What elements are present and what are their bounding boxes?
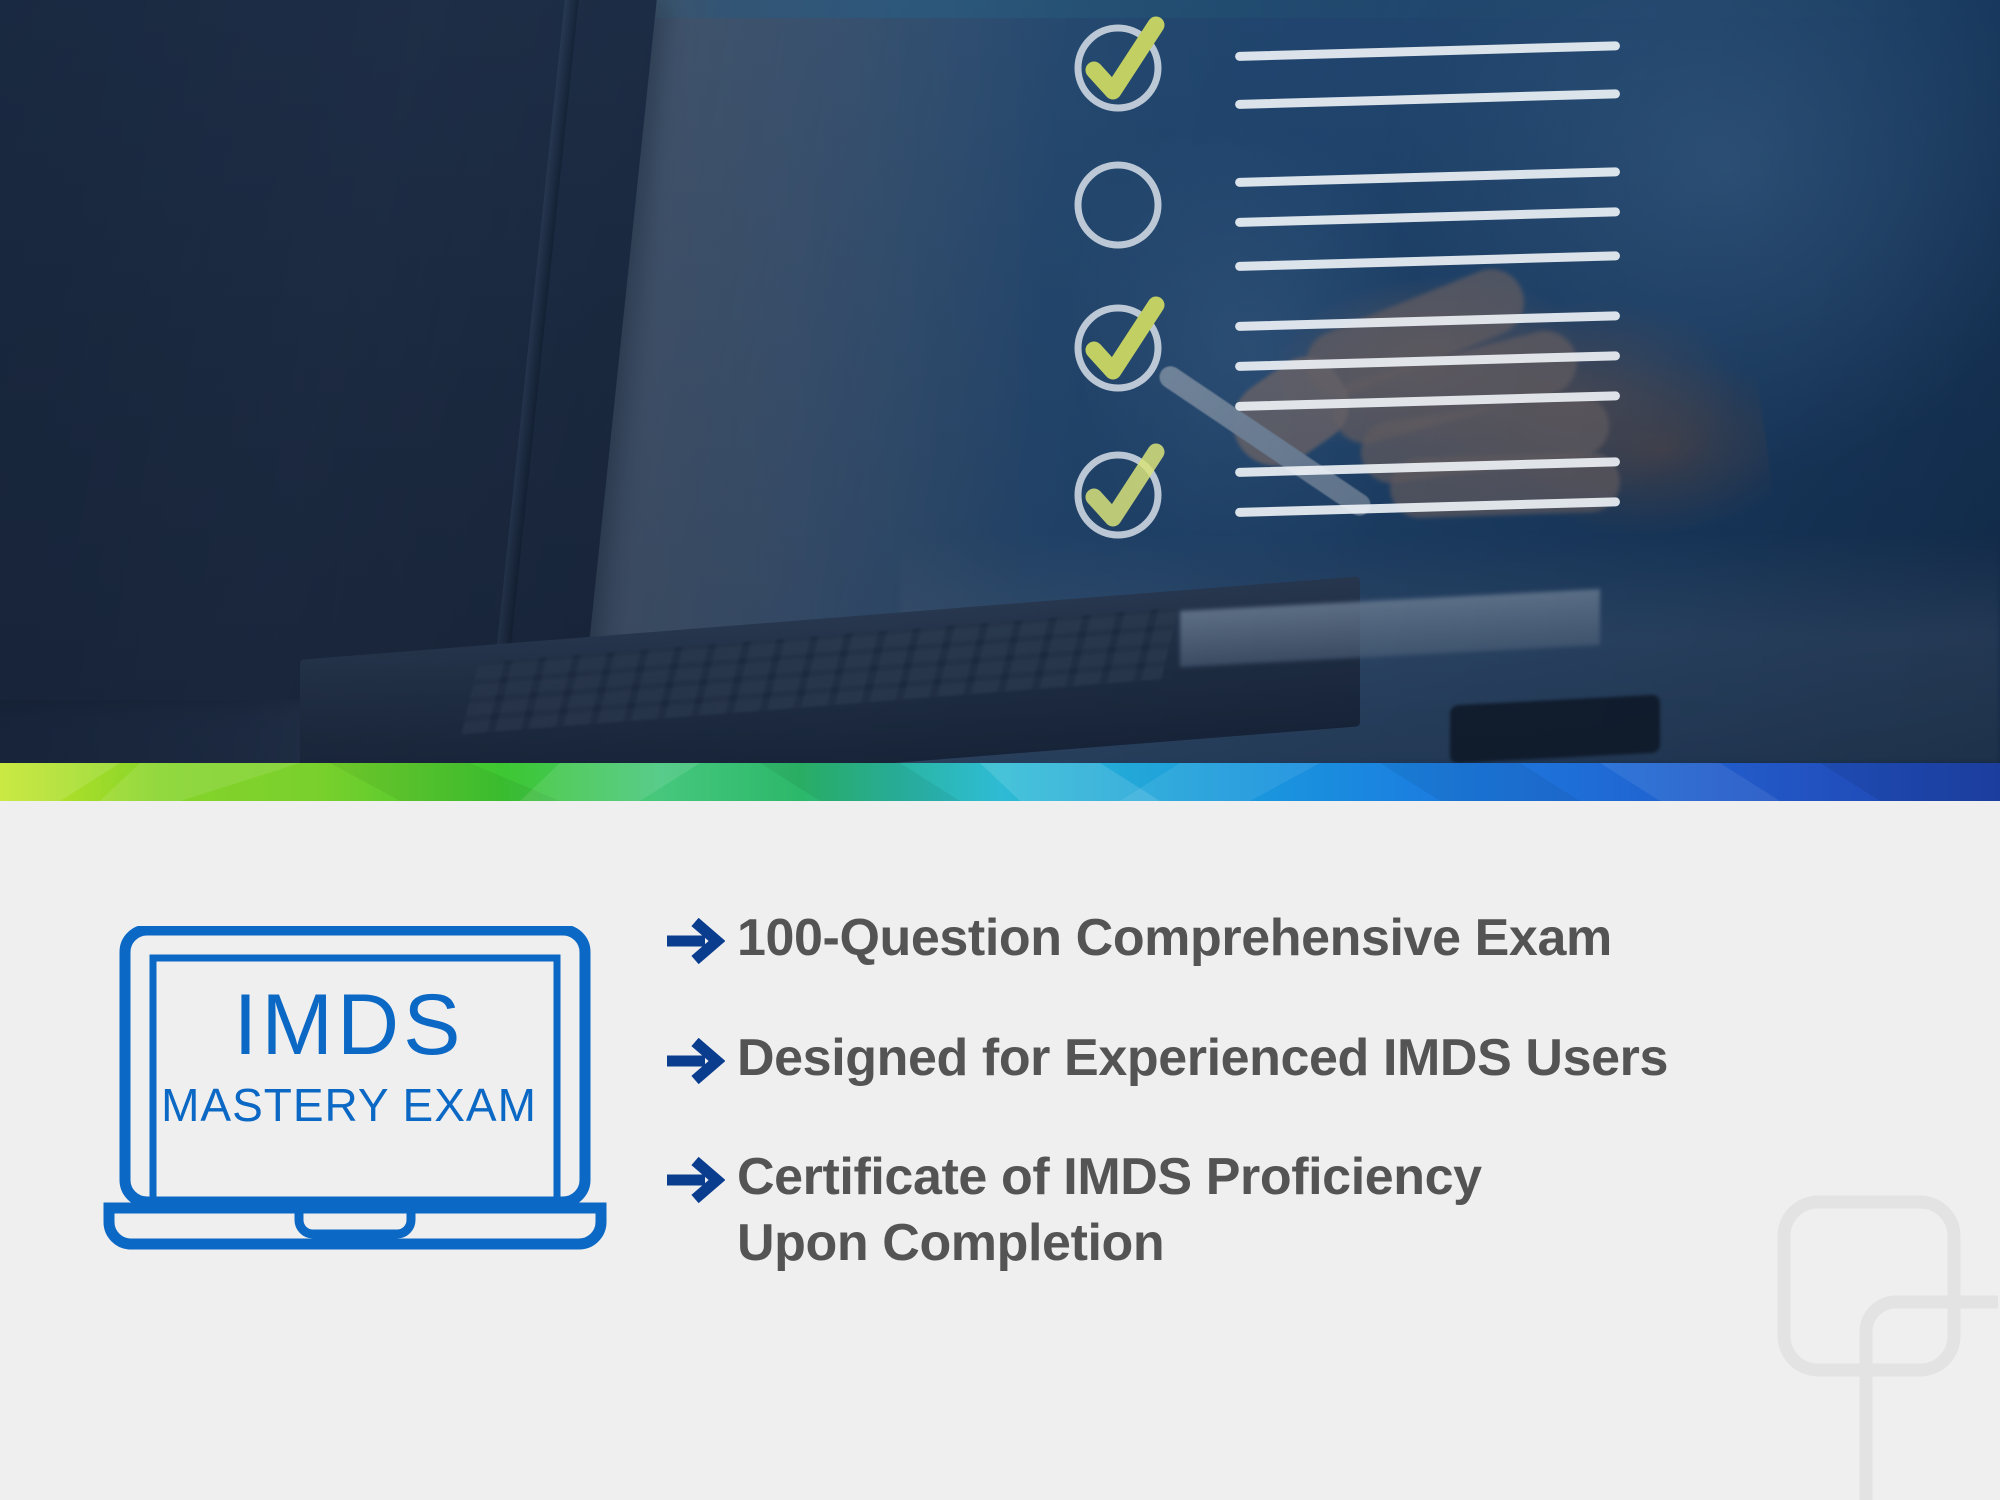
check-icon-4 — [1094, 452, 1156, 518]
brand-gradient-bar — [0, 763, 2000, 801]
checklist-line — [1235, 391, 1620, 411]
feature-label: 100-Question Comprehensive Exam — [737, 906, 1612, 972]
checklist-line — [1235, 351, 1620, 371]
watermark-logo — [1768, 1190, 1998, 1500]
checkbox-circle-2 — [1078, 165, 1158, 245]
promo-graphic: IMDS MASTERY EXAM 100-Question Comprehen… — [0, 0, 2000, 1500]
feature-label: Certificate of IMDS Proficiency Upon Com… — [737, 1145, 1482, 1276]
checklist-overlay — [1060, 0, 1700, 700]
laptop-base-outline — [109, 1208, 601, 1244]
watermark-icon — [1768, 1190, 1998, 1500]
content-panel: IMDS MASTERY EXAM 100-Question Comprehen… — [0, 801, 2000, 1500]
checklist-line — [1235, 207, 1620, 227]
checklist-line — [1235, 41, 1620, 61]
hero-photo — [0, 0, 2000, 763]
arrow-right-icon — [665, 1026, 737, 1089]
feature-item: Designed for Experienced IMDS Users — [665, 1026, 1965, 1092]
hero-image — [0, 0, 2000, 763]
hero-color-tint-2 — [0, 0, 2000, 763]
checklist-line — [1235, 89, 1620, 109]
arrow-right-icon — [665, 1145, 737, 1208]
logo-title: IMDS — [147, 976, 551, 1075]
check-icon-1 — [1094, 25, 1156, 91]
checklist-line — [1235, 167, 1620, 187]
logo-subtitle: MASTERY EXAM — [147, 1078, 551, 1132]
check-icon-3 — [1094, 305, 1156, 371]
checklist-line — [1235, 251, 1620, 271]
checklist-line — [1235, 457, 1620, 477]
feature-item: 100-Question Comprehensive Exam — [665, 906, 1965, 972]
feature-label: Designed for Experienced IMDS Users — [737, 1026, 1668, 1092]
checklist-line — [1235, 497, 1620, 517]
imds-mastery-exam-logo: IMDS MASTERY EXAM — [95, 926, 615, 1266]
gradient-bar-facets — [0, 763, 2000, 801]
checklist-svg — [1060, 0, 1700, 700]
arrow-right-icon — [665, 906, 737, 969]
checklist-line — [1235, 311, 1620, 331]
